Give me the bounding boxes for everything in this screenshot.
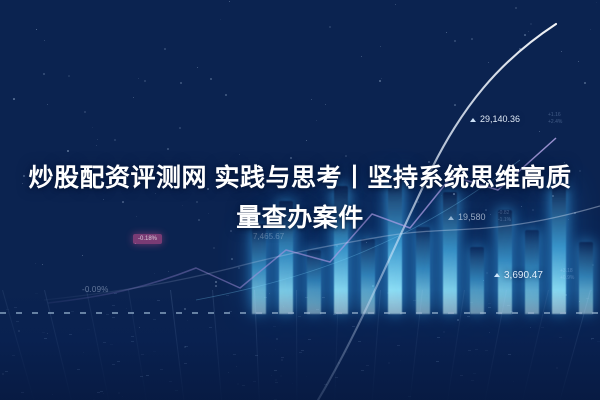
marker-triangle-icon xyxy=(494,273,500,277)
title-line-2: 量查办案件 xyxy=(14,198,586,238)
banner-stage: 29,140.36 19,580 3,690.47 7,465.67 -0.09… xyxy=(0,0,600,400)
title-line-1: 炒股配资评测网 实践与思考丨坚持系统思维高质 xyxy=(14,158,586,198)
micro-label-3: +3.18+0.9% xyxy=(560,268,574,282)
percent-label: -0.09% xyxy=(82,285,109,294)
marker-triangle-icon xyxy=(470,118,476,122)
micro-label-1: +1.16+2.4% xyxy=(548,112,562,126)
value-label-primary: 29,140.36 xyxy=(470,114,520,124)
value-label-tertiary: 3,690.47 xyxy=(494,270,543,281)
banner-title: 炒股配资评测网 实践与思考丨坚持系统思维高质 量查办案件 xyxy=(0,158,600,238)
